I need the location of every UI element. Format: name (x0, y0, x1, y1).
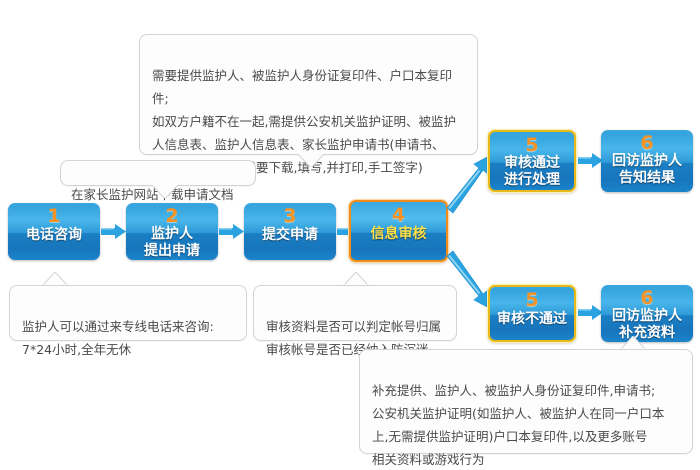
note-download-docs: 在家长监护网站下载申请文档 (60, 160, 256, 186)
step-box-5-pass[interactable]: 5 审核通过 进行处理 (488, 130, 576, 192)
note-hotline-text: 监护人可以通过来专线电话来咨询: 7*24小时,全年无休 (22, 319, 214, 357)
arrow-step1-to-step2 (101, 224, 126, 238)
arrow-pass-5-to-6 (578, 153, 603, 167)
step-3-label: 提交申请 (262, 227, 318, 244)
step-box-4[interactable]: 4 信息审核 (349, 200, 448, 262)
step-box-3[interactable]: 3 提交申请 (244, 203, 336, 260)
step-3-number: 3 (283, 206, 296, 226)
step-box-6-pass[interactable]: 6 回访监护人 告知结果 (601, 130, 693, 192)
note-hotline-tail (42, 272, 68, 285)
step-4-label: 信息审核 (371, 226, 427, 243)
step-6-fail-number: 6 (640, 288, 653, 308)
note-documents-required-tail (298, 154, 324, 167)
step-1-number: 1 (47, 206, 60, 226)
note-review-criteria: 审核资料是否可以判定帐号归属 审核帐号是否已经纳入防沉迷 (253, 285, 457, 341)
step-box-2[interactable]: 2 监护人 提出申请 (126, 203, 218, 260)
step-5-fail-label: 审核不通过 (497, 311, 567, 328)
step-1-label: 电话咨询 (26, 227, 82, 244)
step-6-pass-label: 回访监护人 告知结果 (612, 153, 682, 187)
arrow-step2-to-step3 (219, 224, 244, 238)
note-review-criteria-tail (343, 272, 369, 285)
note-documents-required: 需要提供监护人、被监护人身份证复印件、户口本复印件; 如双方户籍不在一起,需提供… (139, 34, 478, 155)
flowchart-canvas: 需要提供监护人、被监护人身份证复印件、户口本复印件; 如双方户籍不在一起,需提供… (0, 0, 700, 470)
step-5-fail-number: 5 (525, 290, 538, 310)
note-supplement-materials-tail (620, 336, 646, 349)
step-2-number: 2 (165, 206, 178, 226)
note-supplement-materials: 补充提供、监护人、被监护人身份证复印件,申请书; 公安机关监护证明(如监护人、被… (359, 349, 693, 454)
step-4-number: 4 (392, 205, 405, 225)
step-6-pass-number: 6 (640, 133, 653, 153)
note-download-docs-tail (152, 185, 178, 198)
step-box-5-fail[interactable]: 5 审核不通过 (488, 285, 576, 342)
note-hotline: 监护人可以通过来专线电话来咨询: 7*24小时,全年无休 (9, 285, 247, 341)
step-box-1[interactable]: 1 电话咨询 (8, 203, 100, 260)
arrow-fail-5-to-6 (578, 305, 603, 319)
step-5-pass-number: 5 (525, 135, 538, 155)
step-box-6-fail[interactable]: 6 回访监护人 补充资料 (601, 285, 693, 342)
note-supplement-materials-text: 补充提供、监护人、被监护人身份证复印件,申请书; 公安机关监护证明(如监护人、被… (372, 383, 664, 467)
step-5-pass-label: 审核通过 进行处理 (504, 155, 560, 189)
step-2-label: 监护人 提出申请 (144, 226, 200, 260)
